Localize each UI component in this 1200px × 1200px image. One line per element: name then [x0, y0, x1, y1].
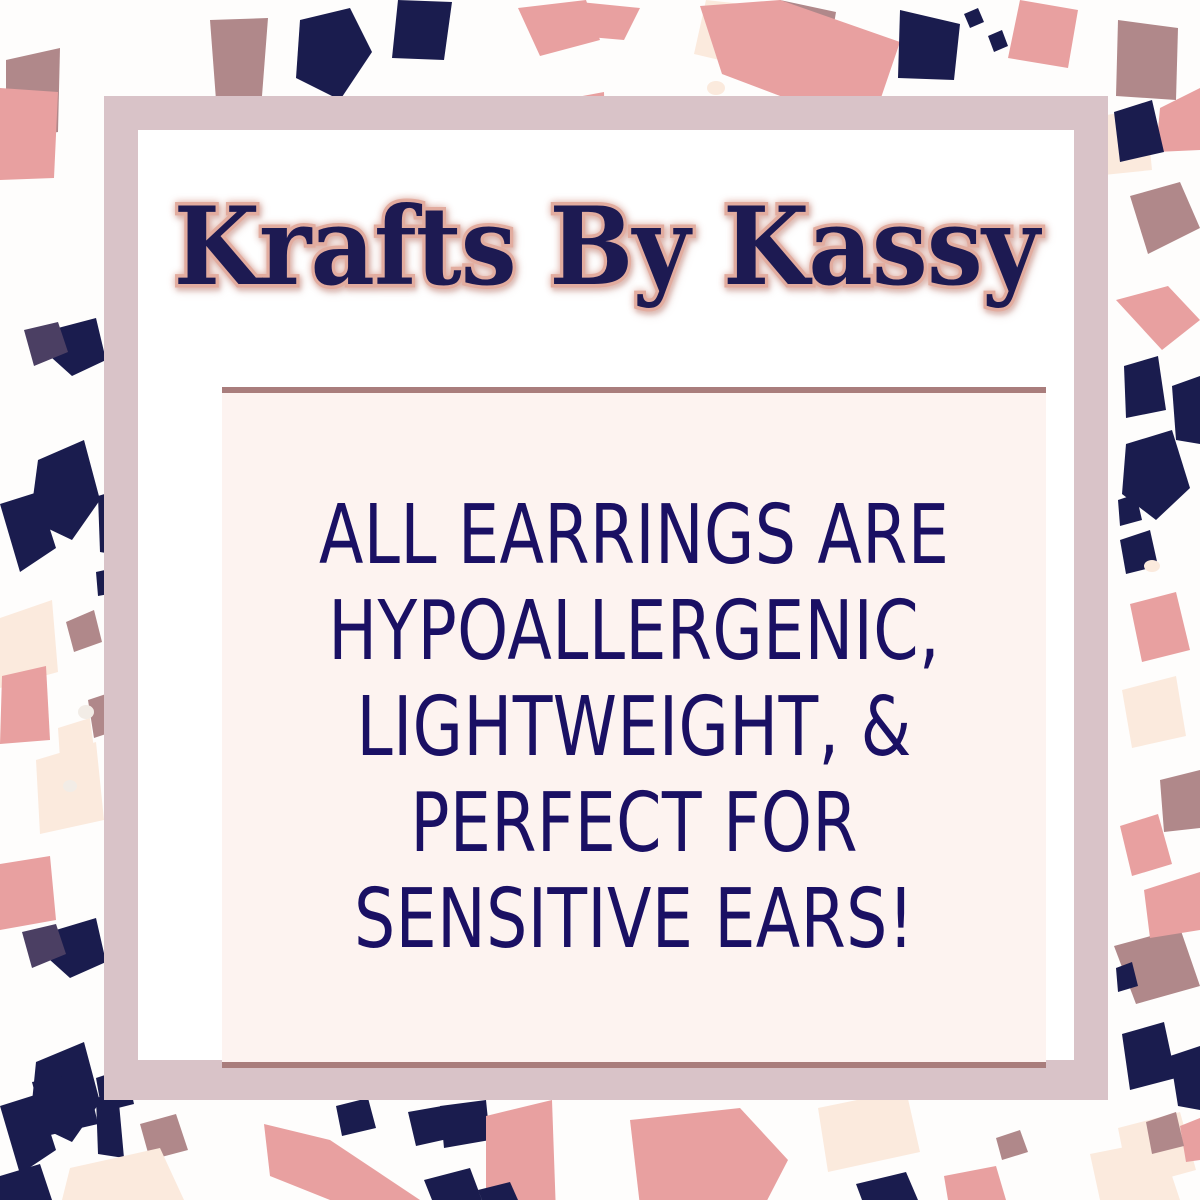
message-panel: ALL EARRINGS ARE HYPOALLERGENIC, LIGHTWE…: [222, 393, 1046, 1062]
headline-line-1: ALL EARRINGS ARE: [319, 488, 949, 584]
headline-line-5: SENSITIVE EARS!: [319, 872, 949, 968]
poster-canvas: Krafts By Kassy ALL EARRINGS ARE HYPOALL…: [0, 0, 1200, 1200]
poster-frame-inner: Krafts By Kassy ALL EARRINGS ARE HYPOALL…: [138, 130, 1074, 1060]
headline-text: ALL EARRINGS ARE HYPOALLERGENIC, LIGHTWE…: [310, 488, 958, 968]
brand-logo-text: Krafts By Kassy: [173, 193, 1038, 301]
divider-bottom: [222, 1062, 1046, 1068]
headline-line-3: LIGHTWEIGHT, &: [319, 680, 949, 776]
headline-line-4: PERFECT FOR: [319, 776, 949, 872]
headline-line-2: HYPOALLERGENIC,: [319, 584, 949, 680]
poster-frame: Krafts By Kassy ALL EARRINGS ARE HYPOALL…: [104, 96, 1108, 1100]
brand-logo: Krafts By Kassy: [138, 182, 1074, 312]
